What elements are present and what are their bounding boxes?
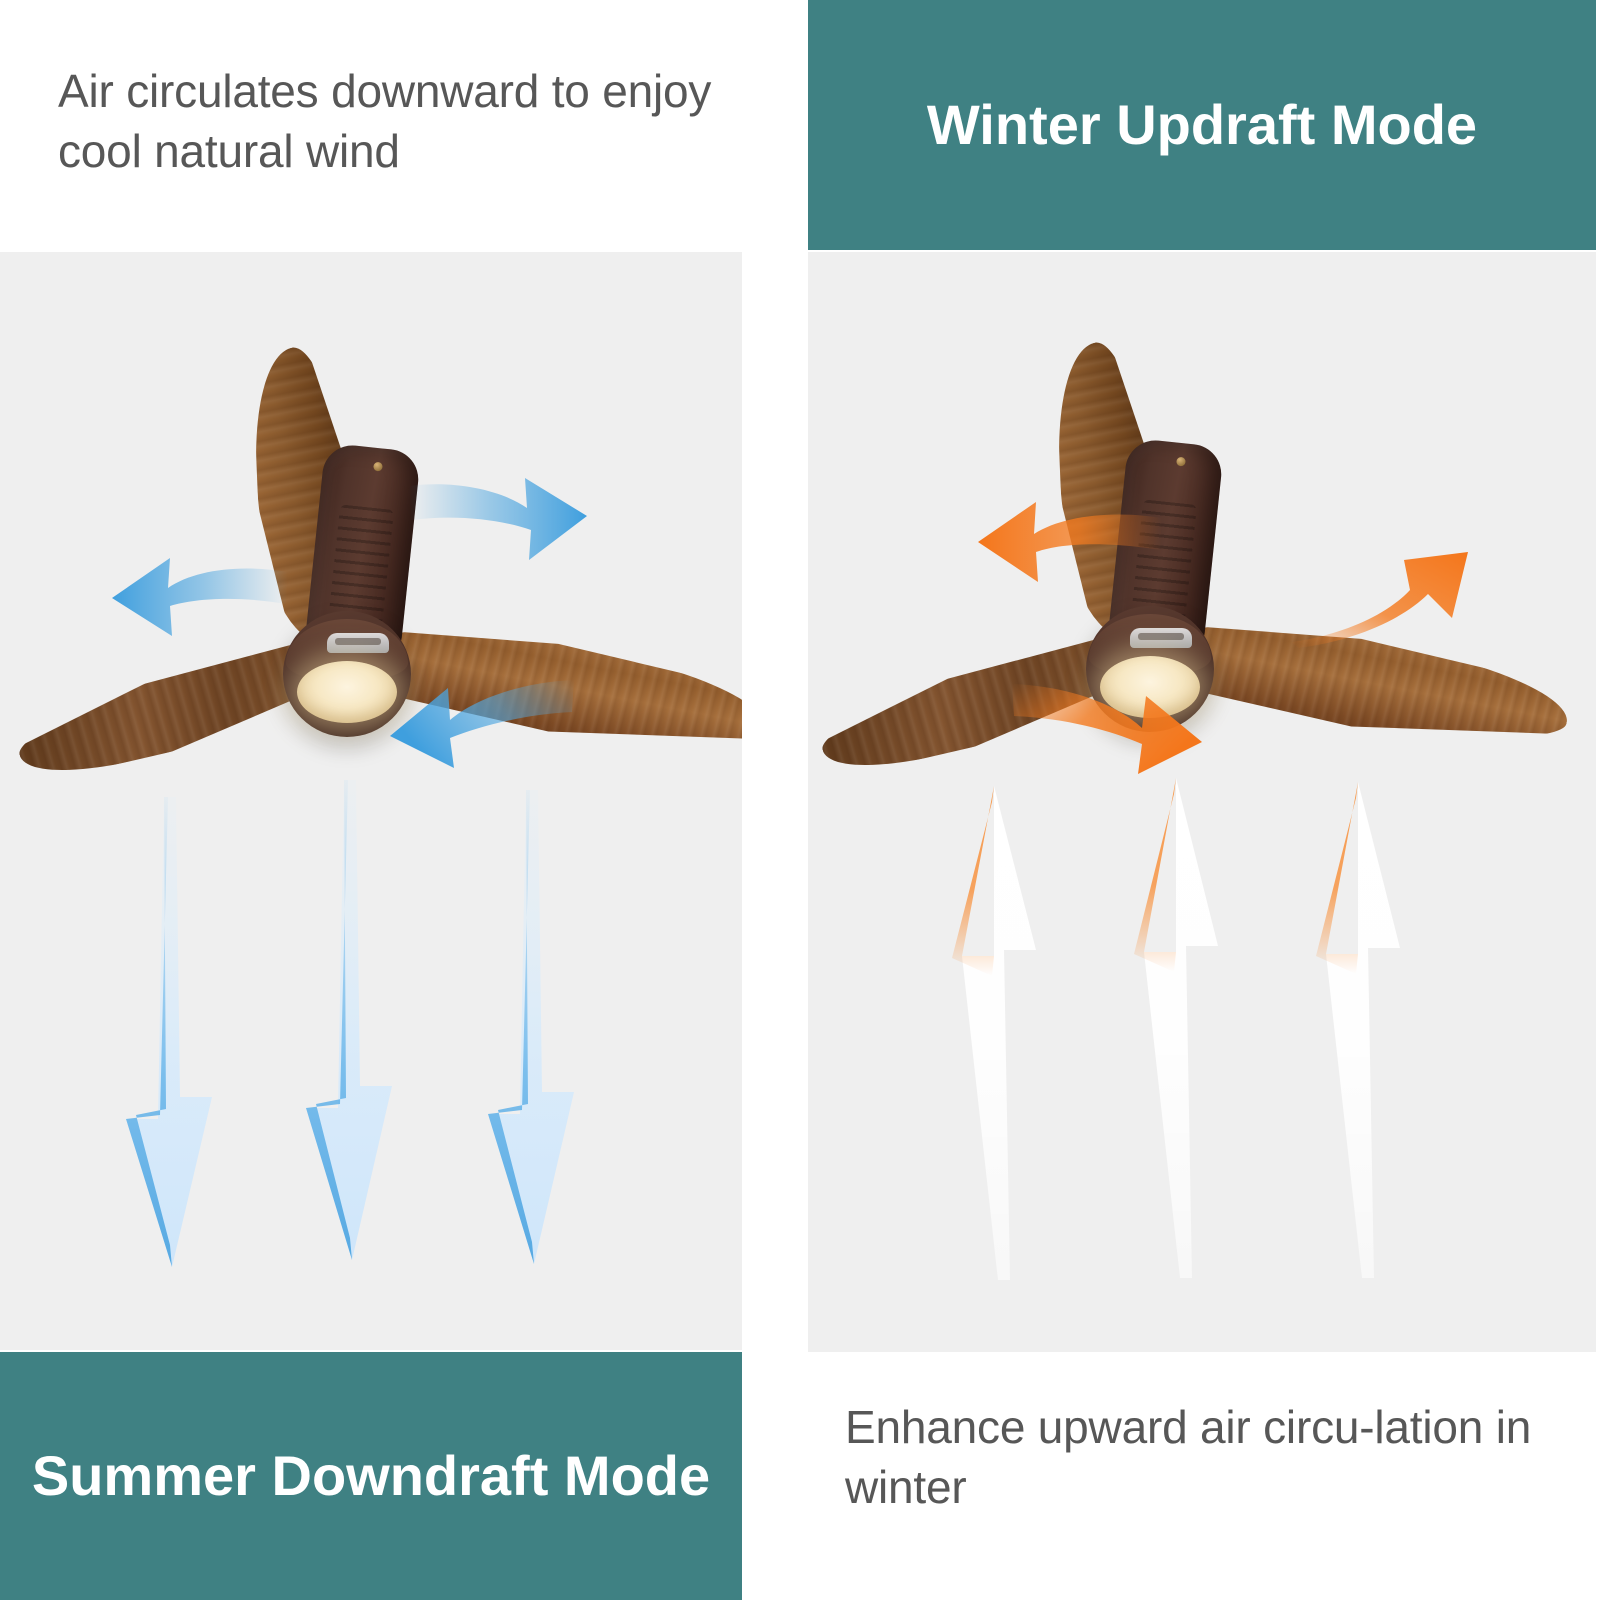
down-flow-arrow-3 — [482, 790, 602, 1315]
airflow-arrow-left-blue — [112, 542, 292, 650]
brand-logo-icon — [1130, 628, 1192, 648]
bottom-right-caption: Enhance upward air circu-lation in winte… — [845, 1398, 1565, 1518]
summer-downdraft-image — [0, 252, 742, 1350]
top-left-caption: Air circulates downward to enjoy cool na… — [58, 62, 758, 182]
winter-updraft-image — [808, 252, 1596, 1352]
up-flow-arrow-3 — [1308, 776, 1428, 1308]
winter-mode-title: Winter Updraft Mode — [840, 93, 1565, 158]
airflow-arrow-lower-orange — [1008, 662, 1208, 780]
airflow-arrow-lower-blue — [388, 664, 578, 774]
down-flow-arrow-1 — [120, 797, 240, 1317]
airflow-arrow-left-orange — [976, 484, 1166, 596]
winter-fan-stage — [808, 252, 1596, 1352]
infographic-board: Air circulates downward to enjoy cool na… — [0, 0, 1600, 1600]
up-flow-arrow-2 — [1126, 772, 1246, 1307]
housing-screw-icon — [1176, 457, 1186, 467]
motor-vent-slots — [328, 504, 394, 625]
airflow-arrow-right-blue — [405, 464, 595, 574]
up-flow-arrow-1 — [944, 780, 1064, 1310]
summer-mode-title: Summer Downdraft Mode — [30, 1444, 713, 1509]
brand-logo-icon — [327, 633, 389, 653]
led-light-lens — [297, 661, 397, 723]
summer-fan-stage — [0, 252, 742, 1350]
down-flow-arrow-2 — [300, 780, 420, 1310]
winter-mode-header: Winter Updraft Mode — [808, 0, 1596, 250]
summer-mode-header: Summer Downdraft Mode — [0, 1352, 742, 1600]
housing-screw-icon — [373, 462, 383, 472]
airflow-arrow-right-orange — [1288, 530, 1478, 648]
